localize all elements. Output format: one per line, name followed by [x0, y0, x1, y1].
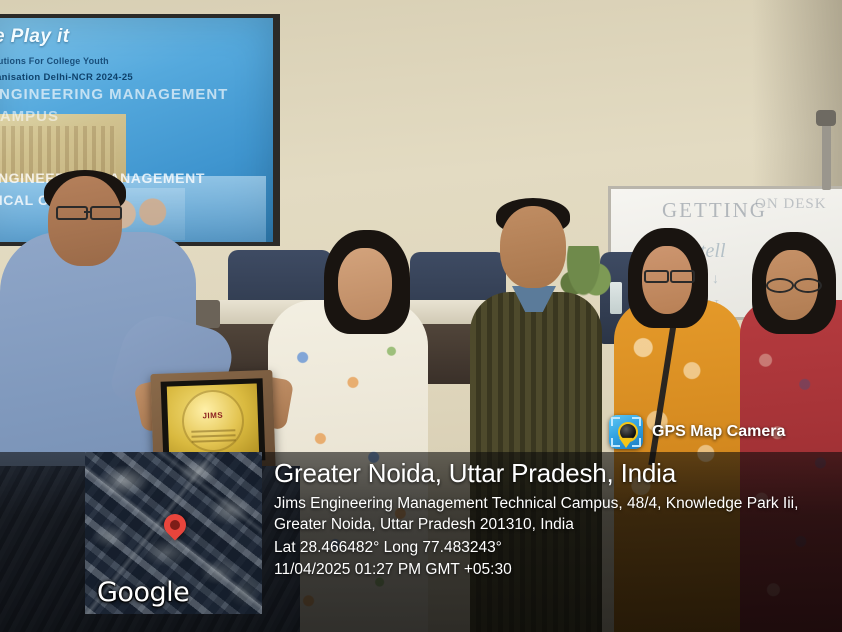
- slide-subtitle-2: ganisation Delhi-NCR 2024-25: [0, 72, 133, 83]
- face: [338, 248, 392, 320]
- face: [500, 206, 566, 288]
- plaque-engraved-lines: [191, 426, 236, 446]
- face: [48, 176, 122, 266]
- slide-banner-line-1: ENGINEERING MANAGEMENT: [0, 86, 188, 108]
- plaque-gold-plate: JIMS: [167, 383, 259, 458]
- eyeglasses-lens: [766, 278, 794, 293]
- whiteboard-text-1: GETTING: [662, 198, 767, 223]
- whiteboard-stand: [822, 120, 831, 190]
- whiteboard-text-4: ↓: [712, 272, 719, 288]
- water-bottle: [610, 282, 622, 314]
- eyeglasses-bridge: [84, 211, 92, 213]
- whiteboard-text-2: ON DESK: [755, 196, 827, 213]
- location-info-block: Greater Noida, Uttar Pradesh, India Jims…: [274, 458, 834, 580]
- gps-camera-photo: e Play it itutions For College Youth gan…: [0, 0, 842, 632]
- slide-banner-line-2: CAMPUS: [0, 108, 188, 130]
- whiteboard-knob: [816, 110, 836, 126]
- plaque-mat: JIMS: [161, 378, 266, 464]
- bracket-corner-icon: [611, 438, 620, 447]
- bracket-corner-icon: [611, 417, 620, 426]
- projector-screen: [0, 18, 273, 242]
- google-watermark: Google: [97, 577, 189, 608]
- location-timestamp: 11/04/2025 01:27 PM GMT +05:30: [274, 560, 834, 580]
- gps-camera-icon: [609, 415, 643, 449]
- location-title: Greater Noida, Uttar Pradesh, India: [274, 458, 834, 489]
- eyeglasses-lens: [670, 270, 695, 283]
- location-address: Jims Engineering Management Technical Ca…: [274, 494, 802, 535]
- eyeglasses-lens: [90, 206, 122, 220]
- plaque-logo-text: JIMS: [202, 411, 223, 421]
- eyeglasses-lens: [644, 270, 669, 283]
- eyeglasses-lens: [56, 206, 88, 220]
- eyeglasses-lens: [794, 278, 822, 293]
- gps-map-camera-badge: GPS Map Camera: [606, 412, 795, 452]
- map-thumbnail[interactable]: Google: [85, 452, 262, 614]
- location-coordinates: Lat 28.466482° Long 77.483243°: [274, 538, 834, 558]
- gps-badge-label: GPS Map Camera: [652, 423, 785, 441]
- slide-subtitle-1: itutions For College Youth: [0, 56, 109, 66]
- slide-title: e Play it: [0, 26, 69, 48]
